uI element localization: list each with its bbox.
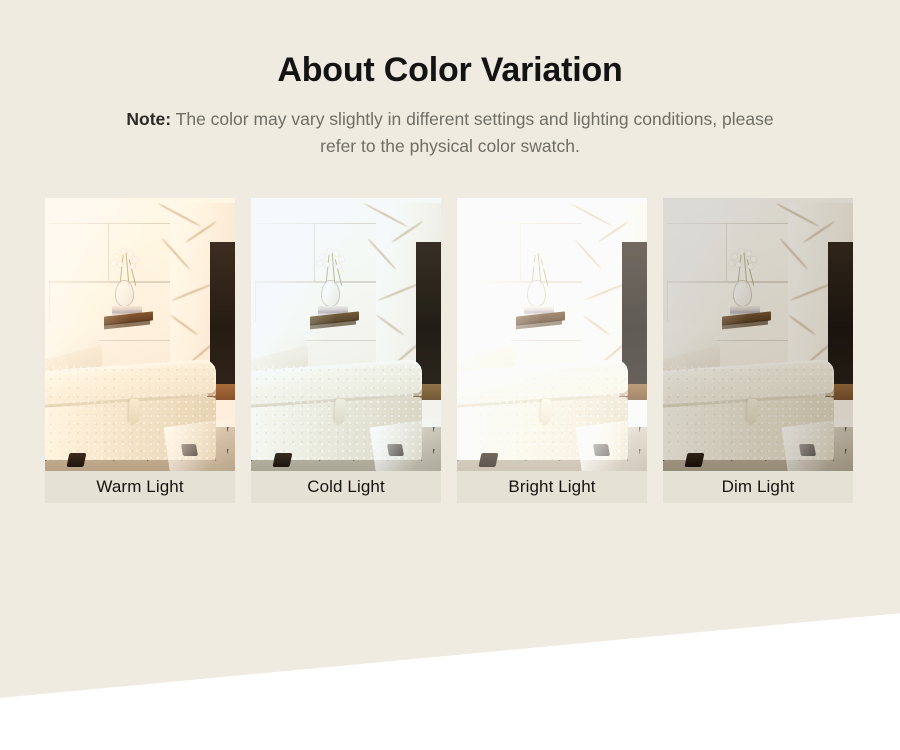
swatch-photo-dim-light[interactable] <box>663 198 853 471</box>
fireplace-opening <box>828 242 853 384</box>
swatch-caption: Dim Light <box>663 471 853 503</box>
room-scene <box>45 198 235 471</box>
color-variation-page: About Color Variation Note: The color ma… <box>0 0 900 750</box>
page-header: About Color Variation Note: The color ma… <box>0 48 900 160</box>
swatch-caption: Cold Light <box>251 471 441 503</box>
ottoman-pull-tab <box>334 398 346 423</box>
swatch-dim-light[interactable]: Dim Light <box>663 198 853 503</box>
ottoman-pull-tab <box>540 398 552 423</box>
swatch-cold-light[interactable]: Cold Light <box>251 198 441 503</box>
fireplace-opening <box>210 242 235 384</box>
ottoman-foot <box>66 453 86 467</box>
fireplace-opening <box>622 242 647 384</box>
room-scene <box>251 198 441 471</box>
swatch-caption: Bright Light <box>457 471 647 503</box>
color-variation-grid: Warm Light <box>45 198 856 503</box>
swatch-caption: Warm Light <box>45 471 235 503</box>
ottoman-foot <box>684 453 704 467</box>
note-line-1: The color may vary slightly in different… <box>176 109 717 129</box>
swatch-photo-warm-light[interactable] <box>45 198 235 471</box>
note-label: Note: <box>126 109 171 129</box>
room-scene <box>663 198 853 471</box>
fireplace-opening <box>416 242 441 384</box>
room-scene <box>457 198 647 471</box>
ottoman-pull-tab <box>746 398 758 423</box>
swatch-photo-cold-light[interactable] <box>251 198 441 471</box>
page-title: About Color Variation <box>0 48 900 92</box>
ottoman-foot <box>272 453 292 467</box>
ottoman-pull-tab <box>128 398 140 423</box>
swatch-bright-light[interactable]: Bright Light <box>457 198 647 503</box>
swatch-warm-light[interactable]: Warm Light <box>45 198 235 503</box>
swatch-photo-bright-light[interactable] <box>457 198 647 471</box>
ottoman-foot <box>478 453 498 467</box>
disclaimer-note: Note: The color may vary slightly in dif… <box>0 106 900 160</box>
